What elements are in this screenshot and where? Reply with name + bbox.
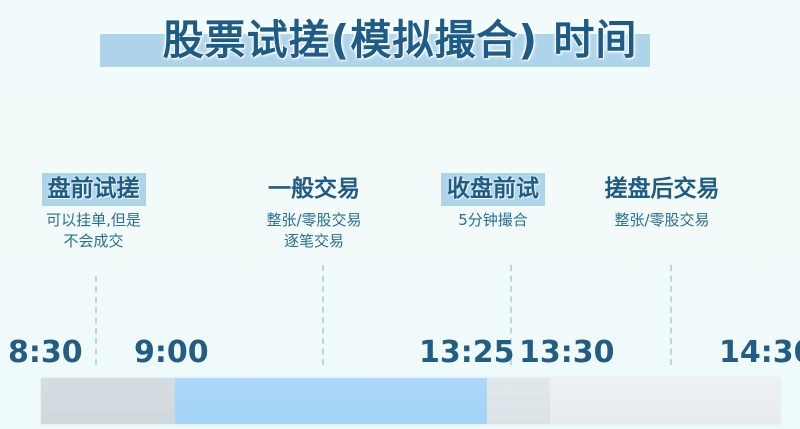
divider-0900-1325	[322, 265, 324, 365]
timeline-segment-pre-close	[487, 378, 550, 424]
timeline-bar	[41, 378, 780, 424]
phase-normal-trading-label: 一般交易	[262, 173, 366, 206]
phase-pre-open: 盘前试搓 可以挂单,但是 不会成交	[16, 173, 171, 252]
phase-pre-close-sub-line-1: 5分钟撮合	[422, 210, 564, 231]
page-header: 股票试搓(模拟撮合) 时间	[0, 0, 800, 100]
divider-1330-1430	[670, 265, 672, 365]
time-tick-1325: 13:25	[419, 334, 515, 372]
timeline-infographic: 股票试搓(模拟撮合) 时间 盘前试搓 可以挂单,但是 不会成交 一般交易 整张/…	[0, 0, 800, 429]
phase-after-hours-sub-line-1: 整张/零股交易	[562, 210, 762, 231]
phase-normal-trading: 一般交易 整张/零股交易 逐笔交易	[214, 173, 414, 252]
time-tick-1330: 13:30	[519, 334, 615, 372]
phase-pre-close-label: 收盘前试	[441, 173, 545, 206]
phase-pre-open-sub-line-2: 不会成交	[16, 231, 171, 252]
page-title: 股票试搓(模拟撮合) 时间	[0, 6, 800, 66]
phase-normal-trading-sub-line-2: 逐笔交易	[214, 231, 414, 252]
phase-after-hours: 搓盘后交易 整张/零股交易	[562, 173, 762, 231]
phase-normal-trading-sub-line-1: 整张/零股交易	[214, 210, 414, 231]
phase-after-hours-label: 搓盘后交易	[599, 173, 726, 206]
timeline-segment-pre-open	[41, 378, 175, 424]
timeline-segment-normal	[175, 378, 487, 424]
phase-pre-open-label: 盘前试搓	[42, 173, 146, 206]
phase-pre-open-sub-line-1: 可以挂单,但是	[16, 210, 171, 231]
time-tick-1430: 14:30	[719, 334, 800, 372]
time-tick-0830: 8:30	[8, 334, 83, 372]
divider-0830-0900	[95, 276, 97, 365]
timeline-segment-after-hours	[550, 378, 780, 424]
phase-pre-close: 收盘前试 5分钟撮合	[422, 173, 564, 231]
time-tick-0900: 9:00	[134, 334, 209, 372]
